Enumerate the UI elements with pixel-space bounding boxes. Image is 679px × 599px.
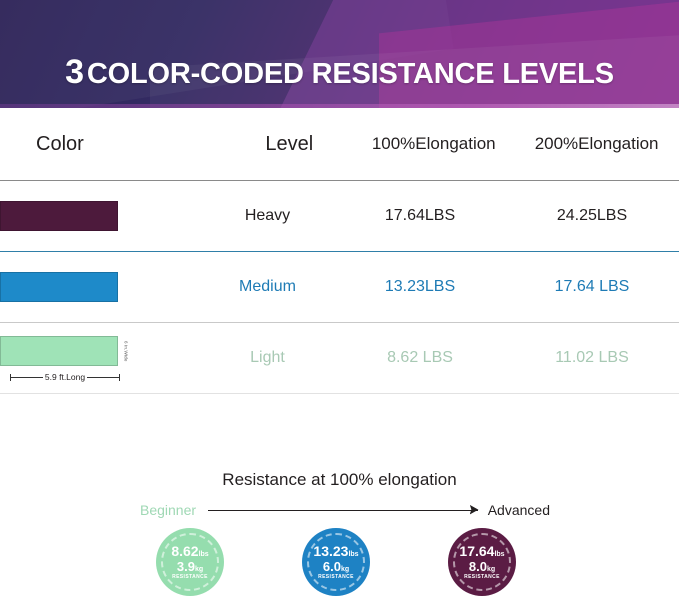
badge-lbs-medium: 13.23lbs xyxy=(313,544,358,558)
badge-kg-value: 6.0 xyxy=(323,559,341,574)
elongation-200-heavy: 24.25LBS xyxy=(505,207,679,225)
elongation-100-light: 8.62 LBS xyxy=(335,349,505,367)
resistance-scale-section: Resistance at 100% elongation Beginner A… xyxy=(0,452,679,599)
page-title-text: COLOR-CODED RESISTANCE LEVELS xyxy=(87,58,614,90)
table-row: 6 in.Wide 5.9 ft.Long Light 8.62 LBS 11.… xyxy=(0,323,679,393)
dimension-line-right xyxy=(87,377,119,378)
badge-lbs-value: 13.23 xyxy=(313,543,348,559)
badge-lbs-value: 17.64 xyxy=(459,543,494,559)
level-cell-light: Light xyxy=(200,349,335,367)
badge-lbs-unit: lbs xyxy=(494,551,504,558)
table-row: Medium 13.23LBS 17.64 LBS xyxy=(0,252,679,322)
badge-lbs-light: 8.62lbs xyxy=(171,544,208,558)
badge-lbs-value: 8.62 xyxy=(171,543,198,559)
difficulty-scale: Beginner Advanced xyxy=(140,500,550,520)
color-swatch-heavy xyxy=(0,201,118,231)
header-banner: 3COLOR-CODED RESISTANCE LEVELS xyxy=(0,0,679,108)
badge-kg-value: 3.9 xyxy=(177,559,195,574)
resistance-badge-heavy: 17.64lbs 8.0kg RESISTANCE xyxy=(448,528,516,596)
badge-lbs-heavy: 17.64lbs xyxy=(459,544,504,558)
band-dimension-annotation: 6 in.Wide 5.9 ft.Long xyxy=(0,336,160,392)
scale-title: Resistance at 100% elongation xyxy=(0,470,679,490)
table-header-row: Color Level 100%Elongation 200%Elongatio… xyxy=(0,108,679,180)
scale-label-beginner: Beginner xyxy=(140,502,196,518)
elongation-200-medium: 17.64 LBS xyxy=(505,278,679,296)
resistance-badge-medium: 13.23lbs 6.0kg RESISTANCE xyxy=(302,528,370,596)
table-divider-bottom xyxy=(0,393,679,394)
color-swatch-medium xyxy=(0,272,118,302)
badge-label-medium: RESISTANCE xyxy=(318,575,354,580)
badge-kg-light: 3.9kg xyxy=(177,560,203,573)
scale-arrow-icon xyxy=(208,510,478,511)
level-cell-heavy: Heavy xyxy=(200,207,335,225)
band-length-dimension: 5.9 ft.Long xyxy=(10,371,120,383)
page-title-count: 3 xyxy=(65,53,84,91)
elongation-100-medium: 13.23LBS xyxy=(335,278,505,296)
column-header-color: Color xyxy=(0,133,225,156)
badge-kg-unit: kg xyxy=(341,566,349,573)
badge-lbs-unit: lbs xyxy=(348,551,358,558)
level-cell-medium: Medium xyxy=(200,278,335,296)
badge-label-light: RESISTANCE xyxy=(172,575,208,580)
resistance-badge-light: 8.62lbs 3.9kg RESISTANCE xyxy=(156,528,224,596)
band-width-label: 6 in.Wide xyxy=(120,336,132,366)
dimension-cap-right xyxy=(119,374,120,381)
dimension-line-left xyxy=(11,377,43,378)
badge-kg-unit: kg xyxy=(195,566,203,573)
badge-kg-heavy: 8.0kg xyxy=(469,560,495,573)
badge-kg-value: 8.0 xyxy=(469,559,487,574)
badge-lbs-unit: lbs xyxy=(199,551,209,558)
column-header-level: Level xyxy=(225,133,353,156)
badge-kg-medium: 6.0kg xyxy=(323,560,349,573)
page-title: 3COLOR-CODED RESISTANCE LEVELS xyxy=(0,55,679,89)
table-row: Heavy 17.64LBS 24.25LBS xyxy=(0,181,679,251)
resistance-table: Color Level 100%Elongation 200%Elongatio… xyxy=(0,108,679,394)
badge-label-heavy: RESISTANCE xyxy=(464,575,500,580)
scale-label-advanced: Advanced xyxy=(488,502,550,518)
band-length-label: 5.9 ft.Long xyxy=(43,372,87,382)
badge-kg-unit: kg xyxy=(487,566,495,573)
resistance-badges: 8.62lbs 3.9kg RESISTANCE 13.23lbs 6.0kg … xyxy=(0,528,679,598)
elongation-100-heavy: 17.64LBS xyxy=(335,207,505,225)
elongation-200-light: 11.02 LBS xyxy=(505,349,679,367)
column-header-elongation-200: 200%Elongation xyxy=(514,134,679,154)
column-header-elongation-100: 100%Elongation xyxy=(353,134,514,154)
